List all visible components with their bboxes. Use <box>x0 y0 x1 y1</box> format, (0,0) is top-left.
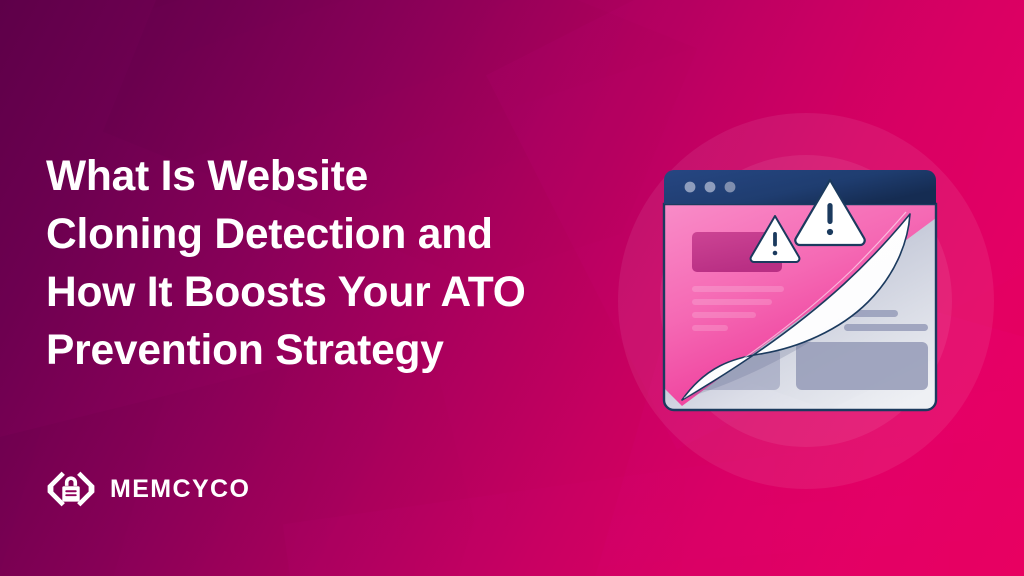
page-title: What Is Website Cloning Detection and Ho… <box>46 148 606 380</box>
website-cloning-peel-illustration <box>648 158 952 422</box>
headline-line-1: What Is Website <box>46 148 606 206</box>
window-dot <box>705 182 716 193</box>
angle-brackets-padlock-icon <box>46 464 96 514</box>
window-dot <box>685 182 696 193</box>
pink-page-line <box>692 325 728 331</box>
headline-line-3: How It Boosts Your ATO <box>46 264 606 322</box>
pink-page-line <box>692 286 784 292</box>
window-dot <box>725 182 736 193</box>
grey-page-block <box>796 342 928 390</box>
brand-logo[interactable]: MEMCYCO <box>46 464 250 514</box>
pink-page-line <box>692 299 772 305</box>
pink-page-line <box>692 312 756 318</box>
brand-wordmark: MEMCYCO <box>110 477 250 502</box>
blog-hero-banner: What Is Website Cloning Detection and Ho… <box>0 0 1024 576</box>
grey-page-line <box>844 324 928 331</box>
headline-line-2: Cloning Detection and <box>46 206 606 264</box>
headline-line-4: Prevention Strategy <box>46 322 606 380</box>
